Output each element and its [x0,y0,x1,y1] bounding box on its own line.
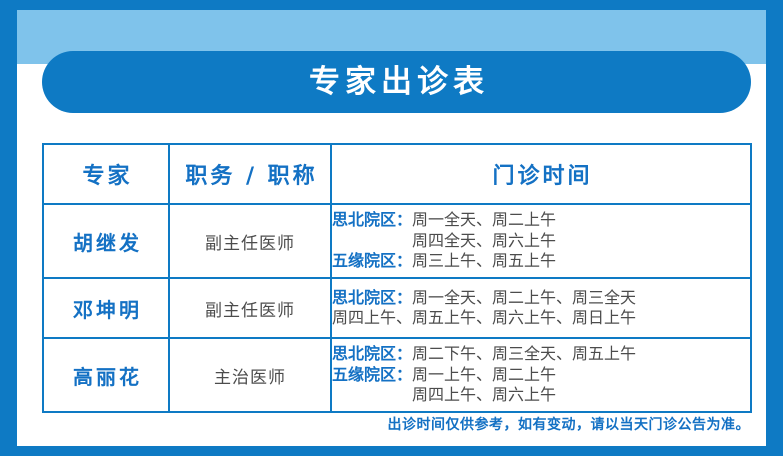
table-row: 邓坤明 副主任医师 思北院区：周一全天、周二上午、周三全天 周四上午、周五上午、… [43,278,751,338]
cell-job-title: 副主任医师 [169,204,331,278]
frame-border-bottom [0,446,783,456]
table-header-row: 专家 职务 / 职称 门诊时间 [43,144,751,204]
expert-name: 高丽花 [44,361,168,390]
header-label-job-title: 职务 / 职称 [170,158,330,190]
table-row: 高丽花 主治医师 思北院区：周二下午、周三全天、周五上午 五缘院区：周一上午、周… [43,338,751,412]
time-line: 思北院区：周一全天、周二上午、周三全天 [332,288,750,308]
cell-expert: 胡继发 [43,204,169,278]
branch-label: 思北院区： [332,344,412,363]
time-line: 周四上午、周五上午、周六上午、周日上午 [332,308,750,328]
frame-border-left [0,0,17,456]
time-detail: 周二下午、周三全天、周五上午 [412,344,636,363]
schedule-table: 专家 职务 / 职称 门诊时间 胡继发 副主任医师 思北院区：周一全天、周二上午 [42,143,752,413]
header-label-clinic-time: 门诊时间 [332,158,750,190]
time-detail: 周四全天、周六上午 [412,231,556,250]
branch-label: 五缘院区： [332,365,412,384]
time-line: 五缘院区：周三上午、周五上午 [332,251,750,271]
table-row: 胡继发 副主任医师 思北院区：周一全天、周二上午 思北院区：周四全天、周六上午 … [43,204,751,278]
time-detail: 周四上午、周六上午 [412,385,556,404]
time-line: 思北院区：周二下午、周三全天、周五上午 [332,344,750,364]
frame-border-right [766,0,783,456]
disclaimer-note: 出诊时间仅供参考，如有变动，请以当天门诊公告为准。 [42,414,750,434]
page-title: 专家出诊表 [304,67,489,98]
branch-label: 五缘院区： [332,251,412,270]
cell-job-title: 副主任医师 [169,278,331,338]
time-detail: 周三上午、周五上午 [412,251,556,270]
expert-name: 胡继发 [44,227,168,256]
header-cell-job-title: 职务 / 职称 [169,144,331,204]
header-cell-expert: 专家 [43,144,169,204]
time-detail: 周四上午、周五上午、周六上午、周日上午 [332,308,636,327]
cell-clinic-time: 思北院区：周一全天、周二上午、周三全天 周四上午、周五上午、周六上午、周日上午 [331,278,751,338]
cell-clinic-time: 思北院区：周一全天、周二上午 思北院区：周四全天、周六上午 五缘院区：周三上午、… [331,204,751,278]
header-label-expert: 专家 [44,158,168,190]
cell-job-title: 主治医师 [169,338,331,412]
branch-label: 思北院区： [332,288,412,307]
cell-clinic-time: 思北院区：周二下午、周三全天、周五上午 五缘院区：周一上午、周二上午 五缘院区：… [331,338,751,412]
expert-name: 邓坤明 [44,294,168,323]
time-line: 思北院区：周一全天、周二上午 [332,210,750,230]
header-cell-clinic-time: 门诊时间 [331,144,751,204]
schedule-poster: 专家出诊表 专家 职务 / 职称 门诊时间 胡继发 [0,0,783,456]
title-banner: 专家出诊表 [42,51,751,113]
job-title: 主治医师 [170,363,330,388]
time-detail: 周一全天、周二上午、周三全天 [412,288,636,307]
frame-border-top [0,0,783,10]
time-line: 思北院区：周四全天、周六上午 [332,231,750,251]
cell-expert: 邓坤明 [43,278,169,338]
time-line: 五缘院区：周一上午、周二上午 [332,365,750,385]
time-detail: 周一上午、周二上午 [412,365,556,384]
job-title: 副主任医师 [170,229,330,254]
cell-expert: 高丽花 [43,338,169,412]
branch-label: 思北院区： [332,210,412,229]
time-detail: 周一全天、周二上午 [412,210,556,229]
job-title: 副主任医师 [170,296,330,321]
time-line: 五缘院区：周四上午、周六上午 [332,385,750,405]
